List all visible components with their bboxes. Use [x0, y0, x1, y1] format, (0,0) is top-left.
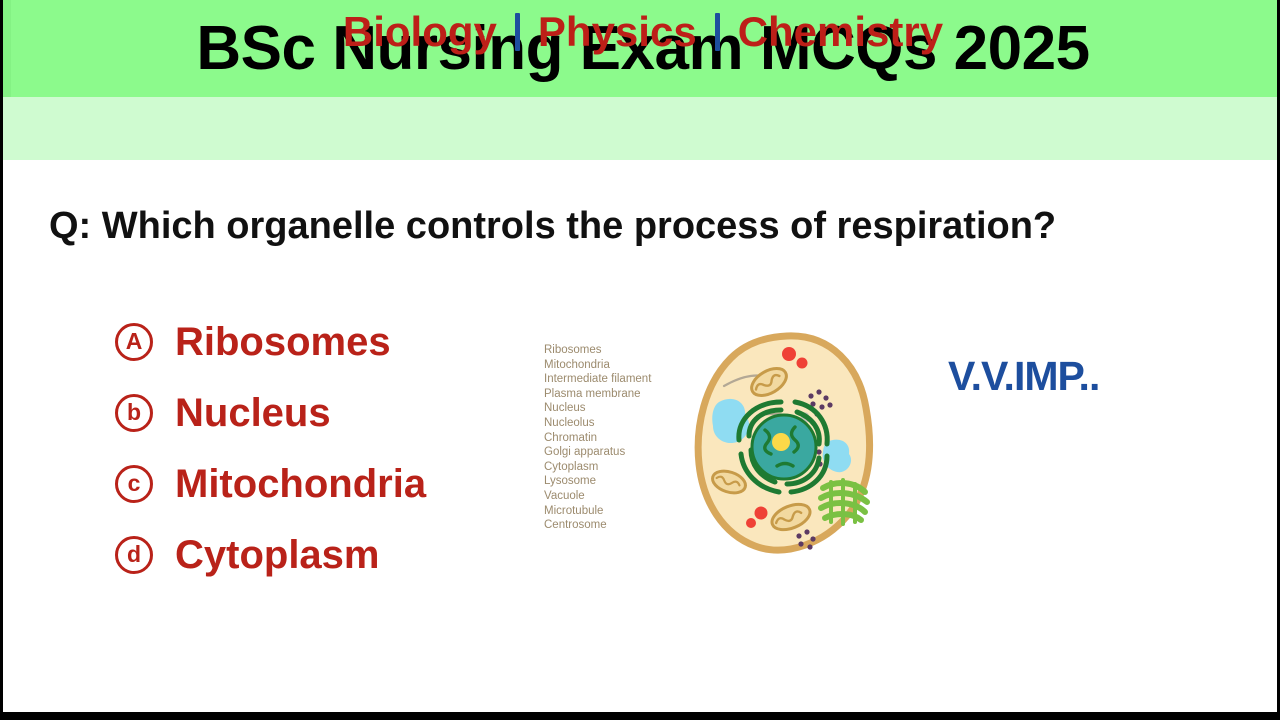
legend-item: Microtubule	[544, 504, 651, 519]
option-label-a: Ribosomes	[175, 320, 391, 364]
subject-chemistry: Chemistry	[738, 9, 943, 55]
option-d[interactable]: d Cytoplasm	[115, 519, 595, 590]
legend-item: Ribosomes	[544, 343, 651, 358]
subject-separator-icon	[715, 13, 720, 51]
answer-options-list: A Ribosomes b Nucleus c Mitochondria d C…	[115, 306, 595, 590]
option-label-c: Mitochondria	[175, 462, 426, 506]
legend-item: Cytoplasm	[544, 460, 651, 475]
option-marker-b-icon: b	[115, 394, 153, 432]
option-marker-d-icon: d	[115, 536, 153, 574]
legend-item: Vacuole	[544, 489, 651, 504]
animal-cell-illustration-icon	[691, 330, 891, 570]
subject-separator-icon	[515, 13, 520, 51]
legend-item: Plasma membrane	[544, 387, 651, 402]
legend-item: Intermediate filament	[544, 372, 651, 387]
option-label-b: Nucleus	[175, 391, 331, 435]
option-marker-a-icon: A	[115, 323, 153, 361]
question-text: Q: Which organelle controls the process …	[49, 200, 1239, 252]
legend-item: Centrosome	[544, 518, 651, 533]
legend-item: Golgi apparatus	[544, 445, 651, 460]
option-a[interactable]: A Ribosomes	[115, 306, 595, 377]
option-b[interactable]: b Nucleus	[115, 377, 595, 448]
option-label-d: Cytoplasm	[175, 533, 380, 577]
legend-item: Lysosome	[544, 474, 651, 489]
slide-canvas: BSc Nursing Exam MCQs 2025 Biology Physi…	[0, 0, 1280, 720]
important-badge: V.V.IMP..	[948, 352, 1099, 400]
legend-item: Mitochondria	[544, 358, 651, 373]
subject-biology: Biology	[343, 9, 497, 55]
subject-physics: Physics	[538, 9, 697, 55]
bottom-frame-bar	[3, 712, 1280, 720]
legend-item: Nucleolus	[544, 416, 651, 431]
legend-item: Nucleus	[544, 401, 651, 416]
cell-diagram-legend: Ribosomes Mitochondria Intermediate fila…	[544, 343, 651, 533]
subject-list: Biology Physics Chemistry	[3, 0, 1280, 63]
subject-band	[3, 97, 1280, 160]
legend-item: Chromatin	[544, 431, 651, 446]
option-c[interactable]: c Mitochondria	[115, 448, 595, 519]
option-marker-c-icon: c	[115, 465, 153, 503]
